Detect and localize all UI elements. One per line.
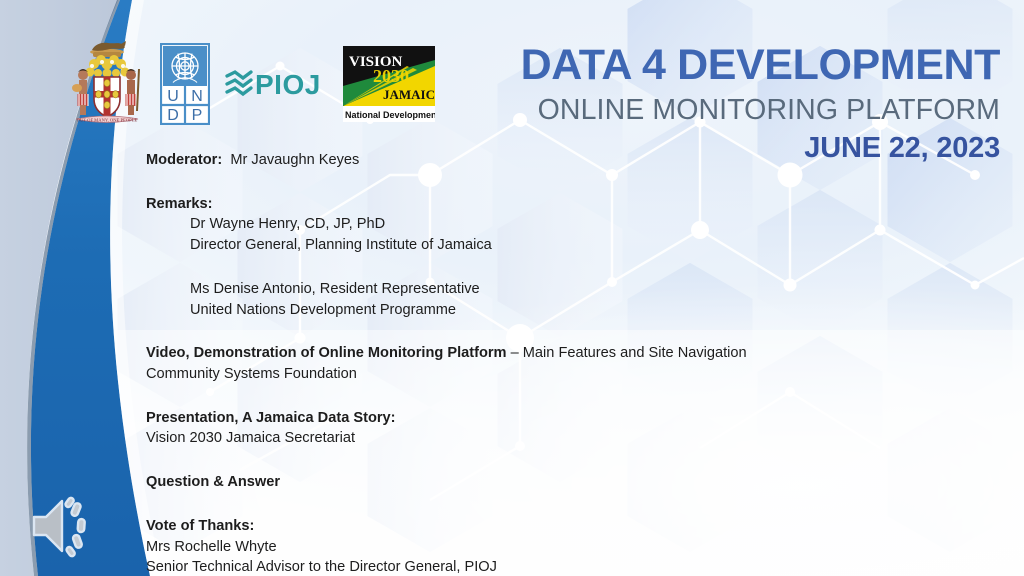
vision-year: 2030 xyxy=(373,66,409,86)
vote-of-thanks-label: Vote of Thanks: xyxy=(146,516,846,537)
agenda-item-moderator: Moderator: Mr Javaughn Keyes xyxy=(146,150,846,171)
remarks-speaker-2-name: Ms Denise Antonio, Resident Representati… xyxy=(146,279,846,300)
page-subtitle: ONLINE MONITORING PLATFORM xyxy=(521,96,1000,125)
moderator-label: Moderator: xyxy=(146,152,222,168)
moderator-name: Mr Javaughn Keyes xyxy=(230,152,359,168)
video-label: Video, Demonstration of Online Monitorin… xyxy=(146,345,507,361)
speaker-audio-icon[interactable] xyxy=(26,489,106,563)
undp-letter-d: D xyxy=(167,107,179,124)
page-title: DATA 4 DEVELOPMENT xyxy=(521,44,1000,87)
presentation-presenter: Vision 2030 Jamaica Secretariat xyxy=(146,428,846,449)
remarks-speaker-1-title: Director General, Planning Institute of … xyxy=(146,235,846,256)
agenda-item-video: Video, Demonstration of Online Monitorin… xyxy=(146,343,846,364)
remarks-speaker-1-name: Dr Wayne Henry, CD, JP, PhD xyxy=(146,214,846,235)
slide-heading: DATA 4 DEVELOPMENT ONLINE MONITORING PLA… xyxy=(521,44,1000,163)
undp-letter-p: P xyxy=(192,107,203,124)
vote-of-thanks-name: Mrs Rochelle Whyte xyxy=(146,537,846,558)
remarks-speaker-2-title: United Nations Development Programme xyxy=(146,300,846,321)
vision-tagline: National Development Plan xyxy=(345,110,435,120)
video-suffix: – Main Features and Site Navigation xyxy=(507,345,747,361)
pioj-wordmark: PIOJ xyxy=(255,69,321,100)
presentation-label: Presentation, A Jamaica Data Story: xyxy=(146,408,846,429)
remarks-label: Remarks: xyxy=(146,194,846,215)
undp-letter-n: N xyxy=(191,88,203,105)
vision-jamaica: JAMAICA xyxy=(383,87,435,102)
logo-row: OUT OF MANY, ONE PEOPLE xyxy=(68,38,435,130)
presentation-slide: OUT OF MANY, ONE PEOPLE xyxy=(0,0,1024,576)
pioj-logo: PIOJ xyxy=(224,63,329,105)
video-presenter: Community Systems Foundation xyxy=(146,364,846,385)
qa-label: Question & Answer xyxy=(146,472,846,493)
agenda-list: Moderator: Mr Javaughn Keyes Remarks: Dr… xyxy=(146,150,846,576)
jamaica-coat-of-arms-logo: OUT OF MANY, ONE PEOPLE xyxy=(68,39,146,129)
undp-letter-u: U xyxy=(167,88,179,105)
vote-of-thanks-title: Senior Technical Advisor to the Director… xyxy=(146,557,846,576)
vision-2030-jamaica-logo: VISION 2030 JAMAICA National Development… xyxy=(343,46,435,122)
undp-logo: U N D P xyxy=(160,43,210,125)
